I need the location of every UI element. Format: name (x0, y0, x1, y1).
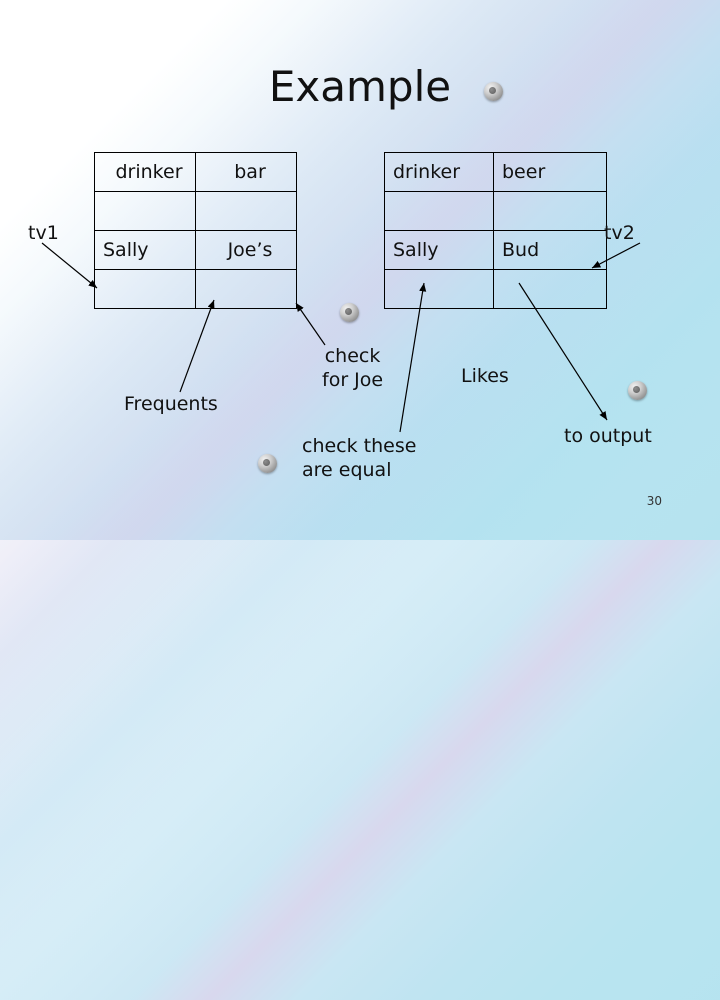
bullet-orb-icon (484, 82, 503, 101)
arrow-frequents-caption (180, 300, 214, 392)
page-number: 30 (647, 494, 662, 508)
frequents-table: drinker bar Sally Joe’s (94, 152, 297, 309)
background-band-1 (0, 0, 720, 1000)
table-row (95, 270, 297, 309)
tv2-label: tv2 (604, 222, 635, 246)
check-these-are-equal-label: check these are equal (302, 435, 416, 483)
frequents-header-bar: bar (196, 153, 297, 192)
likes-cell-r3c2 (494, 270, 607, 309)
to-output-label: to output (564, 425, 652, 449)
table-row: Sally Joe’s (95, 231, 297, 270)
likes-table: drinker beer Sally Bud (384, 152, 607, 309)
bullet-orb-icon (258, 454, 277, 473)
frequents-cell-r3c1 (95, 270, 196, 309)
likes-cell-r3c1 (385, 270, 494, 309)
check-for-joe-label: check for Joe (322, 345, 383, 393)
frequents-caption: Frequents (124, 393, 218, 417)
frequents-cell-r1c2 (196, 192, 297, 231)
background-band-2 (0, 0, 720, 1000)
likes-header-beer: beer (494, 153, 607, 192)
likes-caption: Likes (461, 365, 509, 389)
arrow-check-for-joe (296, 303, 325, 345)
likes-cell-r1c1 (385, 192, 494, 231)
frequents-cell-r3c2 (196, 270, 297, 309)
table-row (385, 270, 607, 309)
arrow-tv1 (42, 243, 97, 288)
frequents-cell-r2c2: Joe’s (196, 231, 297, 270)
table-row (385, 192, 607, 231)
likes-cell-r2c1: Sally (385, 231, 494, 270)
frequents-cell-r1c1 (95, 192, 196, 231)
likes-cell-r1c2 (494, 192, 607, 231)
frequents-cell-r2c1: Sally (95, 231, 196, 270)
table-row: Sally Bud (385, 231, 607, 270)
bullet-orb-icon (628, 381, 647, 400)
table-row (95, 192, 297, 231)
bullet-orb-icon (340, 303, 359, 322)
frequents-header-drinker: drinker (95, 153, 196, 192)
table-row: drinker bar (95, 153, 297, 192)
tv1-label: tv1 (28, 222, 59, 246)
likes-cell-r2c2: Bud (494, 231, 607, 270)
likes-header-drinker: drinker (385, 153, 494, 192)
page-title: Example (0, 62, 720, 111)
table-row: drinker beer (385, 153, 607, 192)
